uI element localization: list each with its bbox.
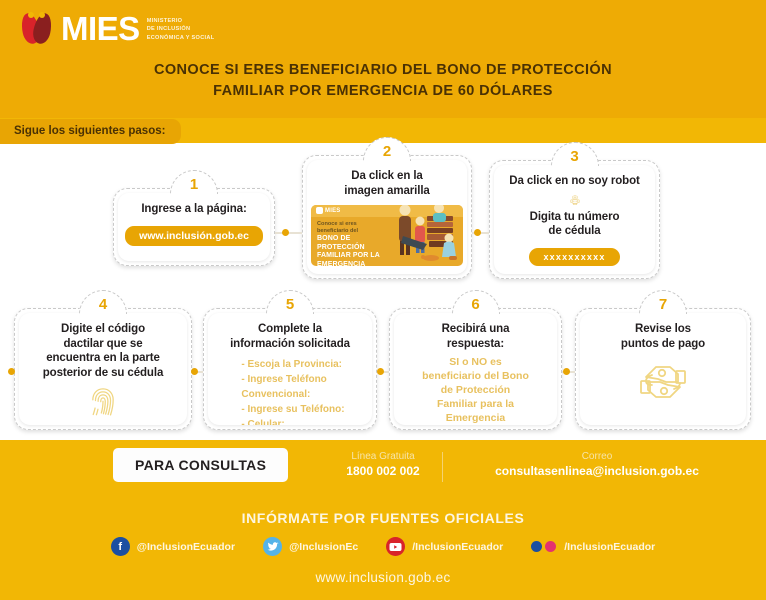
step-6-sub-line1: SI o NO es: [449, 356, 502, 368]
step-5-title-line1: Complete la: [258, 323, 322, 335]
step-number-1: 1: [190, 177, 198, 194]
youtube-handle[interactable]: /InclusionEcuador: [412, 541, 503, 553]
step-4-title-line2: dactilar que se: [63, 338, 142, 350]
step-2-title: Da click en la imagen amarilla: [344, 169, 429, 198]
phone-label: Línea Gratuita: [318, 450, 448, 463]
step-3-subtitle: Digita tu número de cédula: [530, 210, 620, 239]
step-3-subtitle-line2: de cédula: [548, 225, 600, 237]
connector-dot-4-5: [191, 368, 198, 375]
step-number-badge-2: 2: [363, 137, 411, 161]
step-6-sub-line4: Familiar para la: [437, 398, 514, 410]
step-6-response-text: SI o NO es beneficiario del Bono de Prot…: [422, 356, 529, 425]
social-facebook[interactable]: f @InclusionEcuador: [111, 537, 235, 556]
footer-title: INFÓRMATE POR FUENTES OFICIALES: [0, 510, 766, 526]
step-card-4[interactable]: 4 Digite el código dactilar que se encue…: [14, 308, 192, 430]
step-1-title: Ingrese a la página:: [141, 202, 246, 217]
step-card-7[interactable]: 7 Revise los puntos de pago: [575, 308, 751, 430]
mail-label: Correo: [452, 450, 742, 463]
step-7-title-line1: Revise los: [635, 323, 691, 335]
consultas-phone: Línea Gratuita 1800 002 002: [318, 450, 448, 479]
fingerprint-icon: [87, 387, 119, 417]
step-5-field-list: - Escoja la Provincia: - Ingrese Teléfon…: [235, 357, 344, 425]
logo-subtitle-line2: DE INCLUSIÓN: [147, 26, 191, 32]
facebook-handle[interactable]: @InclusionEcuador: [137, 541, 235, 553]
page-title-line1: CONOCE SI ERES BENEFICIARIO DEL BONO DE …: [154, 62, 612, 78]
connector-dot-6-7: [563, 368, 570, 375]
phone-value[interactable]: 1800 002 002: [318, 463, 448, 479]
step-card-1[interactable]: 1 Ingrese a la página: www.inclusión.gob…: [113, 188, 275, 266]
social-twitter[interactable]: @InclusionEc: [263, 537, 358, 556]
step-7-title: Revise los puntos de pago: [621, 322, 705, 351]
logo-subtitle-line1: MINISTERIO: [147, 18, 183, 24]
step-4-title-line1: Digite el código: [61, 323, 145, 335]
money-hands-icon: [632, 357, 694, 409]
step-number-3: 3: [570, 149, 578, 166]
twitter-icon[interactable]: [263, 537, 282, 556]
youtube-icon[interactable]: [386, 537, 405, 556]
connector-dot-3-4: [8, 368, 15, 375]
facebook-icon[interactable]: f: [111, 537, 130, 556]
step-5-title: Complete la información solicitada: [230, 322, 350, 351]
page-title-line2: FAMILIAR POR EMERGENCIA DE 60 DÓLARES: [213, 83, 553, 99]
step-number-2: 2: [383, 144, 391, 161]
step-3-title: Da click en no soy robot: [509, 174, 640, 189]
page-header: MIES MINISTERIO DE INCLUSIÓN ECONÓMICA Y…: [0, 0, 766, 118]
step-4-title-line3: encuentra en la parte: [46, 352, 160, 364]
step-card-3[interactable]: 3 Da click en no soy robot Digita tu n: [489, 160, 660, 279]
list-item: - Escoja la Provincia:: [241, 357, 344, 372]
step-card-6[interactable]: 6 Recibirá una respuesta: SI o NO es ben…: [389, 308, 562, 430]
social-links: f @InclusionEcuador @InclusionEc /Inclus…: [0, 537, 766, 556]
step-4-title: Digite el código dactilar que se encuent…: [43, 322, 164, 381]
social-flickr[interactable]: /InclusionEcuador: [531, 540, 655, 553]
list-item: - Ingrese su Teléfono:: [241, 402, 344, 417]
flickr-icon[interactable]: [531, 540, 557, 553]
list-item: Convencional:: [241, 387, 344, 402]
step-6-title: Recibirá una respuesta:: [442, 322, 510, 351]
list-item: - Celular:: [241, 417, 344, 425]
consultas-chip: PARA CONSULTAS: [113, 448, 288, 482]
mies-logo-mark: [22, 11, 54, 45]
step-number-5: 5: [286, 297, 294, 314]
mies-logo: MIES MINISTERIO DE INCLUSIÓN ECONÓMICA Y…: [22, 11, 214, 45]
step-number-6: 6: [471, 297, 479, 314]
connector-dot-5-6: [377, 368, 384, 375]
step-7-title-line2: puntos de pago: [621, 338, 705, 350]
step-6-sub-line2: beneficiario del Bono: [422, 370, 529, 382]
page-title: CONOCE SI ERES BENEFICIARIO DEL BONO DE …: [0, 60, 766, 102]
step-card-2[interactable]: 2 Da click en la imagen amarilla MIES Co…: [302, 155, 472, 279]
connector-dot-2-3: [474, 229, 481, 236]
step-number-7: 7: [659, 297, 667, 314]
step-6-title-line1: Recibirá una: [442, 323, 510, 335]
mail-value[interactable]: consultasenlinea@inclusion.gob.ec: [452, 463, 742, 479]
logo-subtitle: MINISTERIO DE INCLUSIÓN ECONÓMICA Y SOCI…: [147, 14, 215, 41]
consultas-mail: Correo consultasenlinea@inclusion.gob.ec: [452, 450, 742, 479]
connector-dot-1-2: [282, 229, 289, 236]
steps-tab-label: Sigue los siguientes pasos:: [0, 119, 181, 144]
flickr-handle[interactable]: /InclusionEcuador: [564, 541, 655, 553]
step-3-subtitle-line1: Digita tu número: [530, 211, 620, 223]
robot-icon: [558, 195, 592, 205]
step-4-title-line4: posterior de su cédula: [43, 367, 164, 379]
yellow-banner-image[interactable]: MIES Conoce si eres beneficiario del BON…: [311, 205, 463, 266]
social-youtube[interactable]: /InclusionEcuador: [386, 537, 503, 556]
twitter-handle[interactable]: @InclusionEc: [289, 541, 358, 553]
banner-mies-logo: MIES: [316, 207, 340, 214]
step-6-sub-line3: de Protección: [441, 384, 510, 396]
banner-illustration: [387, 205, 463, 266]
step-3-cedula-input[interactable]: xxxxxxxxxx: [529, 248, 619, 266]
step-5-title-line2: información solicitada: [230, 338, 350, 350]
step-1-url-pill[interactable]: www.inclusión.gob.ec: [125, 226, 263, 246]
logo-subtitle-line3: ECONÓMICA Y SOCIAL: [147, 35, 215, 41]
list-item: - Ingrese Teléfono: [241, 372, 344, 387]
banner-logo-text: MIES: [325, 208, 340, 214]
step-number-4: 4: [99, 297, 107, 314]
step-2-title-line1: Da click en la: [351, 170, 422, 182]
site-url[interactable]: www.inclusion.gob.ec: [0, 570, 766, 585]
step-6-title-line2: respuesta:: [447, 338, 504, 350]
logo-wordmark: MIES: [61, 12, 140, 45]
step-6-sub-line5: Emergencia: [446, 412, 506, 424]
step-card-5[interactable]: 5 Complete la información solicitada - E…: [203, 308, 377, 430]
step-2-title-line2: imagen amarilla: [344, 185, 429, 197]
